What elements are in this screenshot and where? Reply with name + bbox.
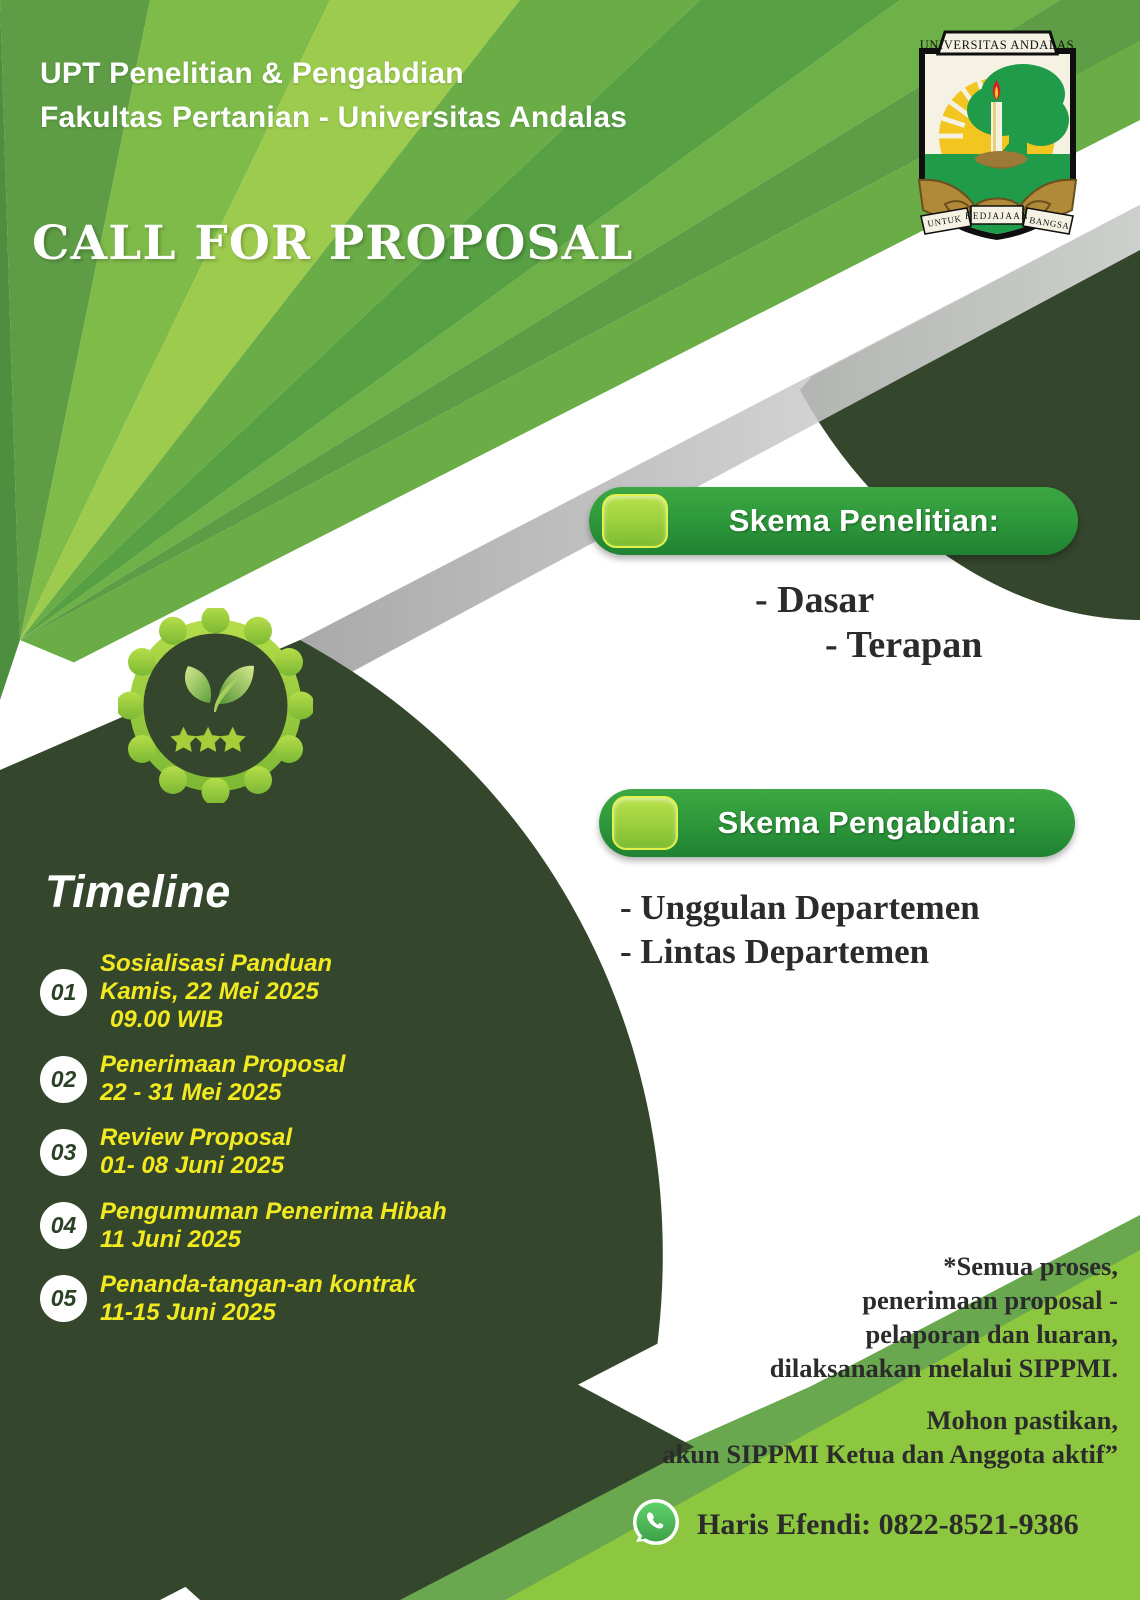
poster-root: UPT Penelitian & Pengabdian Fakultas Per… bbox=[0, 0, 1140, 1600]
note-line: akun SIPPMI Ketua dan Anggota aktif” bbox=[618, 1438, 1118, 1472]
note-line: pelaporan dan luaran, bbox=[618, 1318, 1118, 1352]
timeline-item: 03 Review Proposal 01- 08 Juni 2025 bbox=[40, 1124, 560, 1180]
timeline-line: Penerimaan Proposal bbox=[100, 1051, 345, 1079]
timeline-line: Kamis, 22 Mei 2025 bbox=[100, 978, 332, 1006]
rounded-square-icon bbox=[602, 494, 668, 548]
scheme-pengabdian-items: - Unggulan Departemen - Lintas Departeme… bbox=[620, 886, 980, 974]
organization-header: UPT Penelitian & Pengabdian Fakultas Per… bbox=[40, 52, 627, 139]
timeline-step-number: 04 bbox=[40, 1202, 87, 1249]
timeline-item-text: Pengumuman Penerima Hibah 11 Juni 2025 bbox=[100, 1198, 447, 1254]
contact-row[interactable]: Haris Efendi: 0822-8521-9386 bbox=[630, 1496, 1079, 1553]
timeline-line: 22 - 31 Mei 2025 bbox=[100, 1079, 345, 1107]
note-line: penerimaan proposal - bbox=[618, 1284, 1118, 1318]
timeline-step-number: 02 bbox=[40, 1056, 87, 1103]
timeline-item: 04 Pengumuman Penerima Hibah 11 Juni 202… bbox=[40, 1198, 560, 1254]
rounded-square-icon bbox=[612, 796, 678, 850]
timeline-item: 02 Penerimaan Proposal 22 - 31 Mei 2025 bbox=[40, 1051, 560, 1107]
timeline-line: Sosialisasi Panduan bbox=[100, 950, 332, 978]
header-line-1: UPT Penelitian & Pengabdian bbox=[40, 52, 627, 96]
list-item: - Dasar bbox=[640, 578, 982, 623]
timeline-line: 01- 08 Juni 2025 bbox=[100, 1152, 292, 1180]
timeline-step-number: 01 bbox=[40, 969, 87, 1016]
timeline-line: 09.00 WIB bbox=[100, 1006, 332, 1034]
timeline-item-text: Penerimaan Proposal 22 - 31 Mei 2025 bbox=[100, 1051, 345, 1107]
list-item: - Unggulan Departemen bbox=[620, 886, 980, 930]
timeline-line: Review Proposal bbox=[100, 1124, 292, 1152]
timeline-title: Timeline bbox=[45, 866, 231, 918]
note-paragraph-1: *Semua proses, penerimaan proposal - pel… bbox=[618, 1250, 1118, 1386]
note-paragraph-2: Mohon pastikan, akun SIPPMI Ketua dan An… bbox=[618, 1404, 1118, 1472]
timeline-item-text: Penanda-tangan-an kontrak 11-15 Juni 202… bbox=[100, 1271, 416, 1327]
timeline-line: Pengumuman Penerima Hibah bbox=[100, 1198, 447, 1226]
scheme-pengabdian-pill[interactable]: Skema Pengabdian: bbox=[599, 789, 1075, 857]
timeline-step-number: 05 bbox=[40, 1275, 87, 1322]
scheme-penelitian-pill[interactable]: Skema Penelitian: bbox=[589, 487, 1078, 555]
note-line: *Semua proses, bbox=[618, 1250, 1118, 1284]
logo-ribbon-center: KEDJAJAAN bbox=[965, 211, 1029, 221]
timeline-line: 11-15 Juni 2025 bbox=[100, 1299, 416, 1327]
timeline-item: 05 Penanda-tangan-an kontrak 11-15 Juni … bbox=[40, 1271, 560, 1327]
timeline-item-text: Sosialisasi Panduan Kamis, 22 Mei 2025 0… bbox=[100, 950, 332, 1034]
timeline-item-text: Review Proposal 01- 08 Juni 2025 bbox=[100, 1124, 292, 1180]
process-note: *Semua proses, penerimaan proposal - pel… bbox=[618, 1250, 1118, 1471]
university-crest-icon: UNIVERSITAS ANDALAS bbox=[905, 28, 1090, 243]
timeline-list: 01 Sosialisasi Panduan Kamis, 22 Mei 202… bbox=[40, 950, 560, 1344]
note-line: Mohon pastikan, bbox=[618, 1404, 1118, 1438]
scheme-pengabdian-label: Skema Pengabdian: bbox=[678, 805, 1075, 841]
logo-top-text: UNIVERSITAS ANDALAS bbox=[920, 38, 1075, 52]
contact-label: Haris Efendi: 0822-8521-9386 bbox=[697, 1508, 1079, 1542]
timeline-item: 01 Sosialisasi Panduan Kamis, 22 Mei 202… bbox=[40, 950, 560, 1034]
scheme-penelitian-items: - Dasar - Terapan bbox=[640, 578, 982, 668]
leaf-badge-icon bbox=[118, 608, 313, 803]
whatsapp-icon[interactable] bbox=[630, 1496, 682, 1553]
list-item: - Lintas Departemen bbox=[620, 930, 980, 974]
page-title: CALL FOR PROPOSAL bbox=[32, 216, 634, 271]
scheme-penelitian-label: Skema Penelitian: bbox=[668, 503, 1078, 539]
timeline-line: 11 Juni 2025 bbox=[100, 1226, 447, 1254]
timeline-line: Penanda-tangan-an kontrak bbox=[100, 1271, 416, 1299]
list-item: - Terapan bbox=[640, 623, 982, 668]
header-line-2: Fakultas Pertanian - Universitas Andalas bbox=[40, 96, 627, 140]
timeline-step-number: 03 bbox=[40, 1129, 87, 1176]
note-line: dilaksanakan melalui SIPPMI. bbox=[618, 1352, 1118, 1386]
